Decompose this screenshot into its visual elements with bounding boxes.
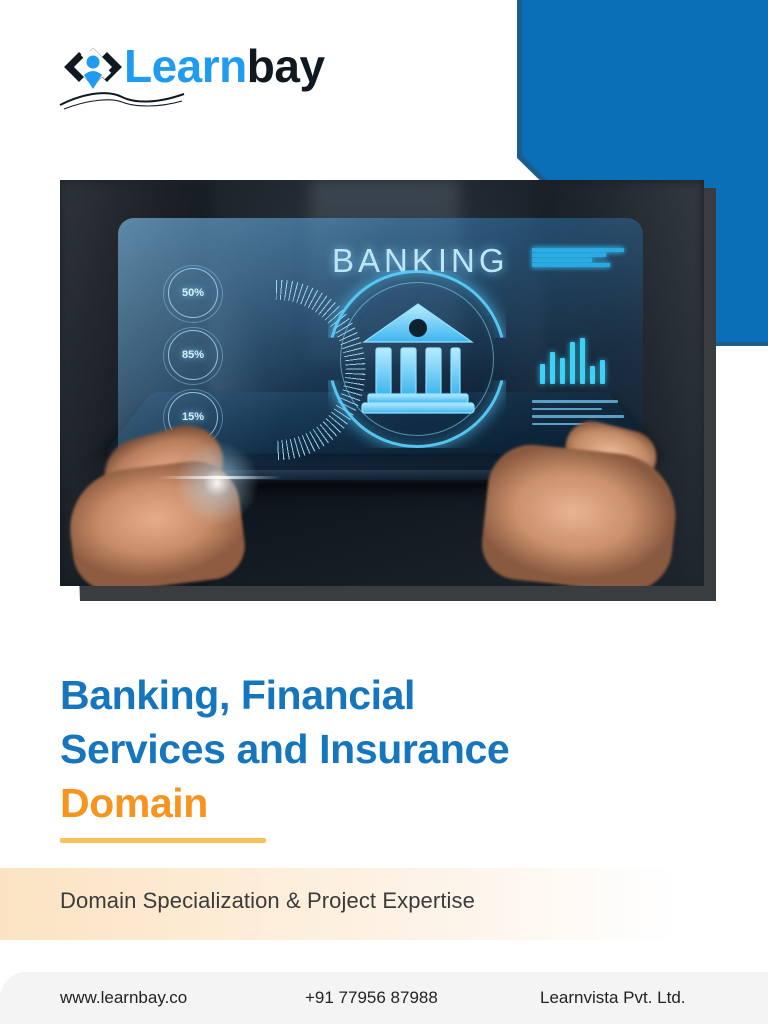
page-title: Banking, Financial Services and Insuranc…: [60, 668, 680, 830]
subtitle-text: Domain Specialization & Project Expertis…: [60, 888, 700, 914]
logo-swoosh-icon: [58, 88, 186, 110]
footer-bar: www.learnbay.co +91 77956 87988 Learnvis…: [0, 972, 768, 1024]
title-underline-rule: [60, 838, 266, 843]
hero-image: BANKING 50% 85% 15%: [60, 180, 704, 586]
footer-phone[interactable]: +91 77956 87988: [305, 988, 438, 1008]
title-line-1: Banking, Financial: [60, 668, 680, 722]
gauge-percent-2: 85%: [168, 330, 218, 380]
gauge-percent-1: 50%: [168, 268, 218, 318]
footer-company: Learnvista Pvt. Ltd.: [540, 988, 686, 1008]
title-line-3: Domain: [60, 776, 680, 830]
hud-horizontal-bars: [532, 254, 636, 316]
lens-flare-ray: [156, 476, 282, 479]
brand-logo[interactable]: Learnbay: [62, 38, 332, 110]
lens-flare: [172, 438, 262, 528]
hud-bar-chart: [540, 336, 640, 384]
bank-building-icon: [360, 298, 476, 416]
hero-image-container: BANKING 50% 85% 15%: [60, 180, 710, 595]
brand-wordmark-bay: bay: [247, 40, 325, 92]
brand-wordmark-learn: Learn: [124, 40, 247, 92]
footer-website[interactable]: www.learnbay.co: [60, 988, 187, 1008]
title-line-2: Services and Insurance: [60, 722, 680, 776]
cover-page: Learnbay BANKING 50% 85% 15%: [0, 0, 768, 1024]
brand-wordmark: Learnbay: [124, 38, 325, 94]
